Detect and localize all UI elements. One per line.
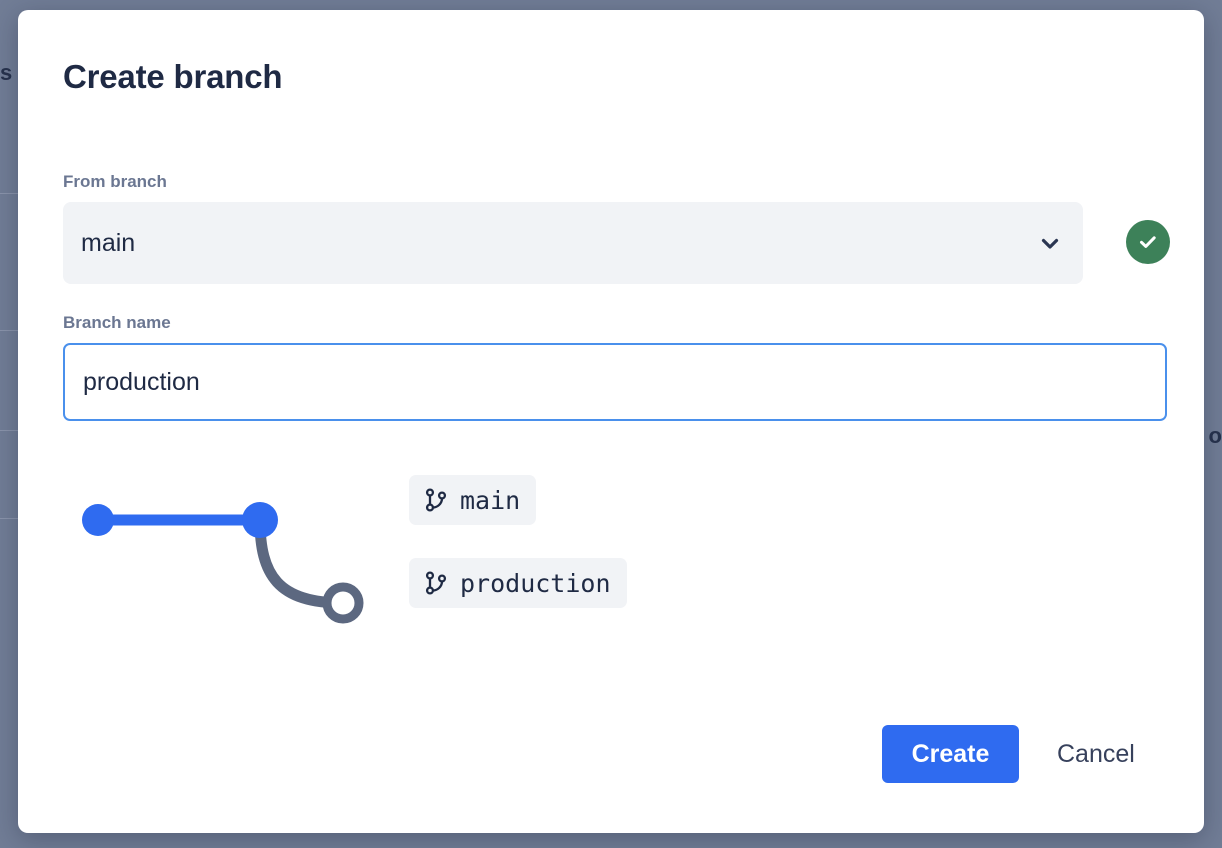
cancel-button[interactable]: Cancel [1051, 725, 1141, 783]
from-branch-label: From branch [63, 172, 167, 192]
branch-pill-main[interactable]: main [409, 475, 536, 525]
git-branch-icon [425, 571, 447, 595]
create-branch-dialog: Create branch From branch main Branch na… [18, 10, 1204, 833]
branch-pill-production[interactable]: production [409, 558, 627, 608]
branch-pill-label: production [460, 571, 611, 596]
branch-graph [63, 475, 403, 635]
branch-label-list: main production [409, 475, 627, 641]
from-branch-valid-icon [1126, 220, 1170, 264]
backdrop-text-left: s [0, 60, 12, 86]
backdrop-text-right: o [1209, 423, 1222, 449]
from-branch-row: main [63, 202, 1158, 284]
create-button[interactable]: Create [882, 725, 1019, 783]
branch-name-input[interactable] [63, 343, 1167, 421]
from-branch-select[interactable]: main [63, 202, 1083, 284]
chevron-down-icon [1039, 233, 1061, 255]
dialog-title: Create branch [63, 58, 282, 96]
git-branch-icon [425, 488, 447, 512]
from-branch-value: main [81, 229, 135, 258]
branch-name-label: Branch name [63, 313, 171, 333]
branch-pill-label: main [460, 488, 520, 513]
